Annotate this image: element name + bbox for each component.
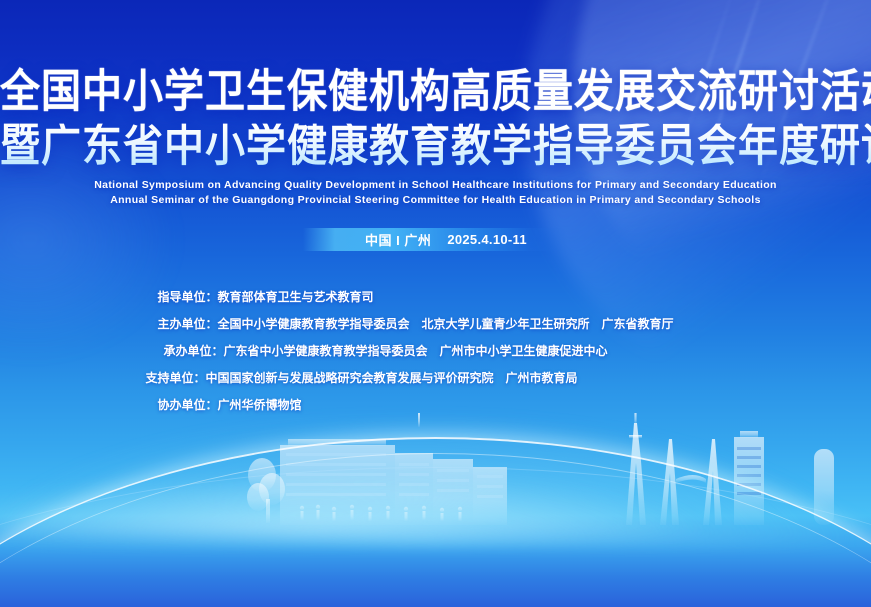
organizer-value: 全国中小学健康教育教学指导委员会 北京大学儿童青少年卫生研究所 广东省教育厅: [218, 315, 674, 332]
organizer-row: 支持单位： 中国国家创新与发展战略研究会教育发展与评价研究院 广州市教育局: [0, 369, 871, 386]
event-location-label: 中国 I 广州: [365, 230, 431, 249]
event-location-date-bar: 中国 I 广州 2025.4.10-11: [303, 228, 568, 251]
organizer-value: 教育部体育卫生与艺术教育司: [218, 288, 374, 305]
organizer-row: 协办单位： 广州华侨博物馆: [0, 396, 871, 413]
organizer-row: 承办单位： 广东省中小学健康教育教学指导委员会 广州市中小学卫生健康促进中心: [0, 342, 871, 359]
subtitle-line-2: Annual Seminar of the Guangdong Provinci…: [0, 193, 871, 208]
event-bar-wrapper: 中国 I 广州 2025.4.10-11: [0, 228, 871, 251]
event-bar-texts: 中国 I 广州 2025.4.10-11: [365, 230, 527, 249]
poster-title-block: 全国中小学卫生保健机构高质量发展交流研讨活动 暨广东省中小学健康教育教学指导委员…: [0, 72, 871, 166]
main-title-line-1: 全国中小学卫生保健机构高质量发展交流研讨活动: [0, 70, 871, 115]
organizer-row: 主办单位： 全国中小学健康教育教学指导委员会 北京大学儿童青少年卫生研究所 广东…: [0, 315, 871, 332]
conference-poster: 全国中小学卫生保健机构高质量发展交流研讨活动 暨广东省中小学健康教育教学指导委员…: [0, 0, 871, 607]
organizer-label: 主办单位：: [158, 315, 218, 332]
main-title-line-2: 暨广东省中小学健康教育教学指导委员会年度研讨活动: [0, 124, 871, 169]
organizer-value: 广州华侨博物馆: [218, 396, 302, 413]
subtitle-line-1: National Symposium on Advancing Quality …: [0, 178, 871, 193]
organizer-label: 支持单位：: [146, 369, 206, 386]
poster-subtitle-block: National Symposium on Advancing Quality …: [0, 178, 871, 208]
organizer-list: 指导单位： 教育部体育卫生与艺术教育司 主办单位： 全国中小学健康教育教学指导委…: [0, 288, 871, 423]
organizer-row: 指导单位： 教育部体育卫生与艺术教育司: [0, 288, 871, 305]
organizer-value: 广东省中小学健康教育教学指导委员会 广州市中小学卫生健康促进中心: [224, 342, 608, 359]
event-date-label: 2025.4.10-11: [447, 232, 527, 247]
organizer-label: 指导单位：: [158, 288, 218, 305]
organizer-label: 承办单位：: [164, 342, 224, 359]
organizer-value: 中国国家创新与发展战略研究会教育发展与评价研究院 广州市教育局: [206, 369, 578, 386]
organizer-label: 协办单位：: [158, 396, 218, 413]
